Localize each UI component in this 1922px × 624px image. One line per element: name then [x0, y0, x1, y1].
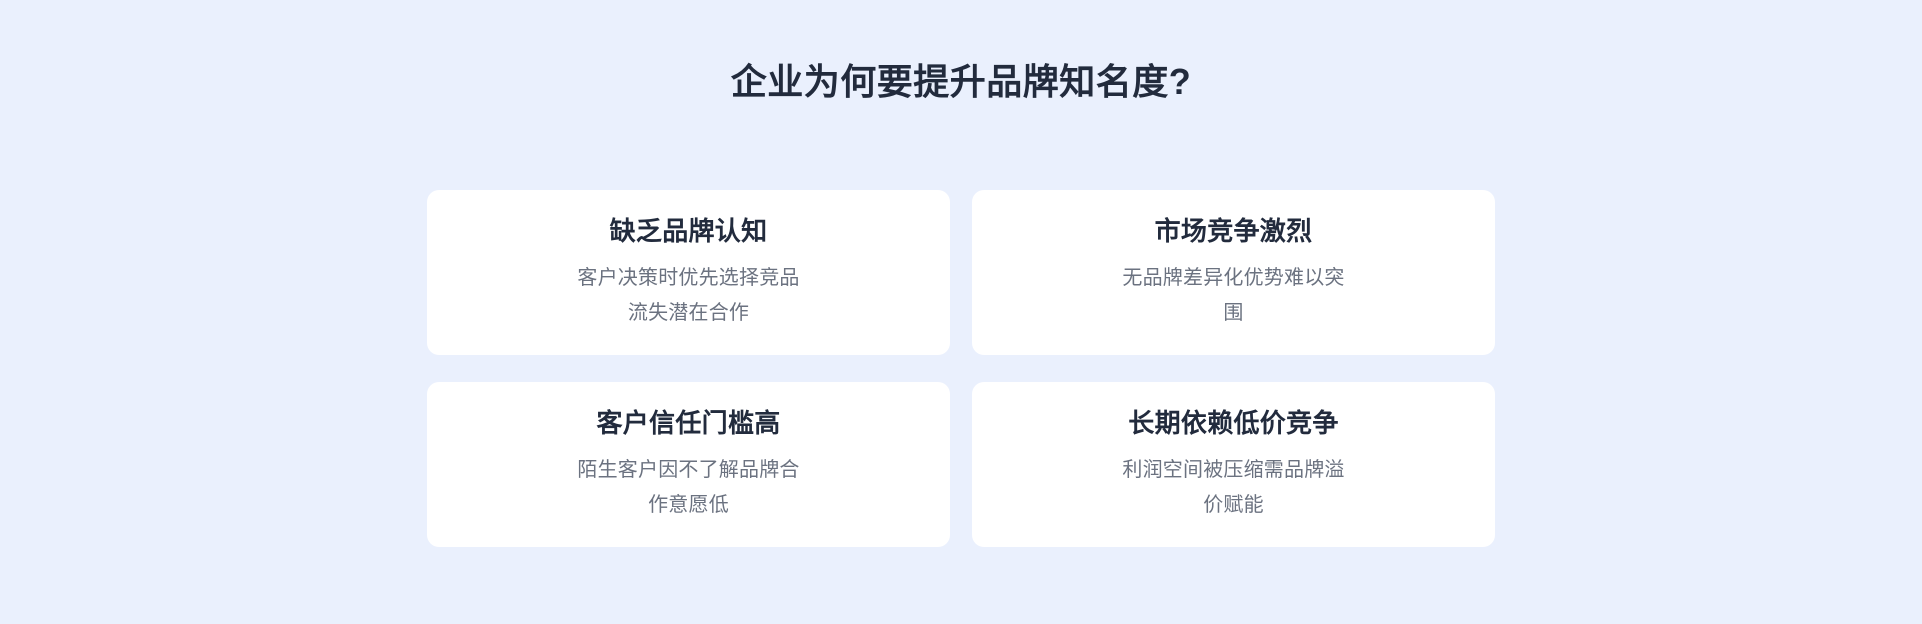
pain-point-card-grid: 缺乏品牌认知 客户决策时优先选择竞品流失潜在合作 市场竞争激烈 无品牌差异化优势…: [427, 190, 1495, 547]
pain-point-card-1[interactable]: 缺乏品牌认知 客户决策时优先选择竞品流失潜在合作: [427, 190, 950, 355]
page-root: 企业为何要提升品牌知名度? 缺乏品牌认知 客户决策时优先选择竞品流失潜在合作 市…: [0, 0, 1922, 624]
pain-point-card-3[interactable]: 客户信任门槛高 陌生客户因不了解品牌合作意愿低: [427, 382, 950, 547]
card-title: 客户信任门槛高: [596, 406, 780, 441]
card-title: 市场竞争激烈: [1155, 214, 1313, 249]
card-title: 缺乏品牌认知: [610, 214, 768, 249]
pain-point-card-4[interactable]: 长期依赖低价竞争 利润空间被压缩需品牌溢价赋能: [972, 382, 1495, 547]
card-description: 陌生客户因不了解品牌合作意愿低: [575, 453, 803, 523]
card-title: 长期依赖低价竞争: [1128, 406, 1338, 441]
section-heading: 企业为何要提升品牌知名度?: [0, 58, 1922, 107]
card-description: 无品牌差异化优势难以突围: [1120, 261, 1348, 331]
card-description: 客户决策时优先选择竞品流失潜在合作: [575, 261, 803, 331]
card-description: 利润空间被压缩需品牌溢价赋能: [1120, 453, 1348, 523]
pain-point-card-2[interactable]: 市场竞争激烈 无品牌差异化优势难以突围: [972, 190, 1495, 355]
